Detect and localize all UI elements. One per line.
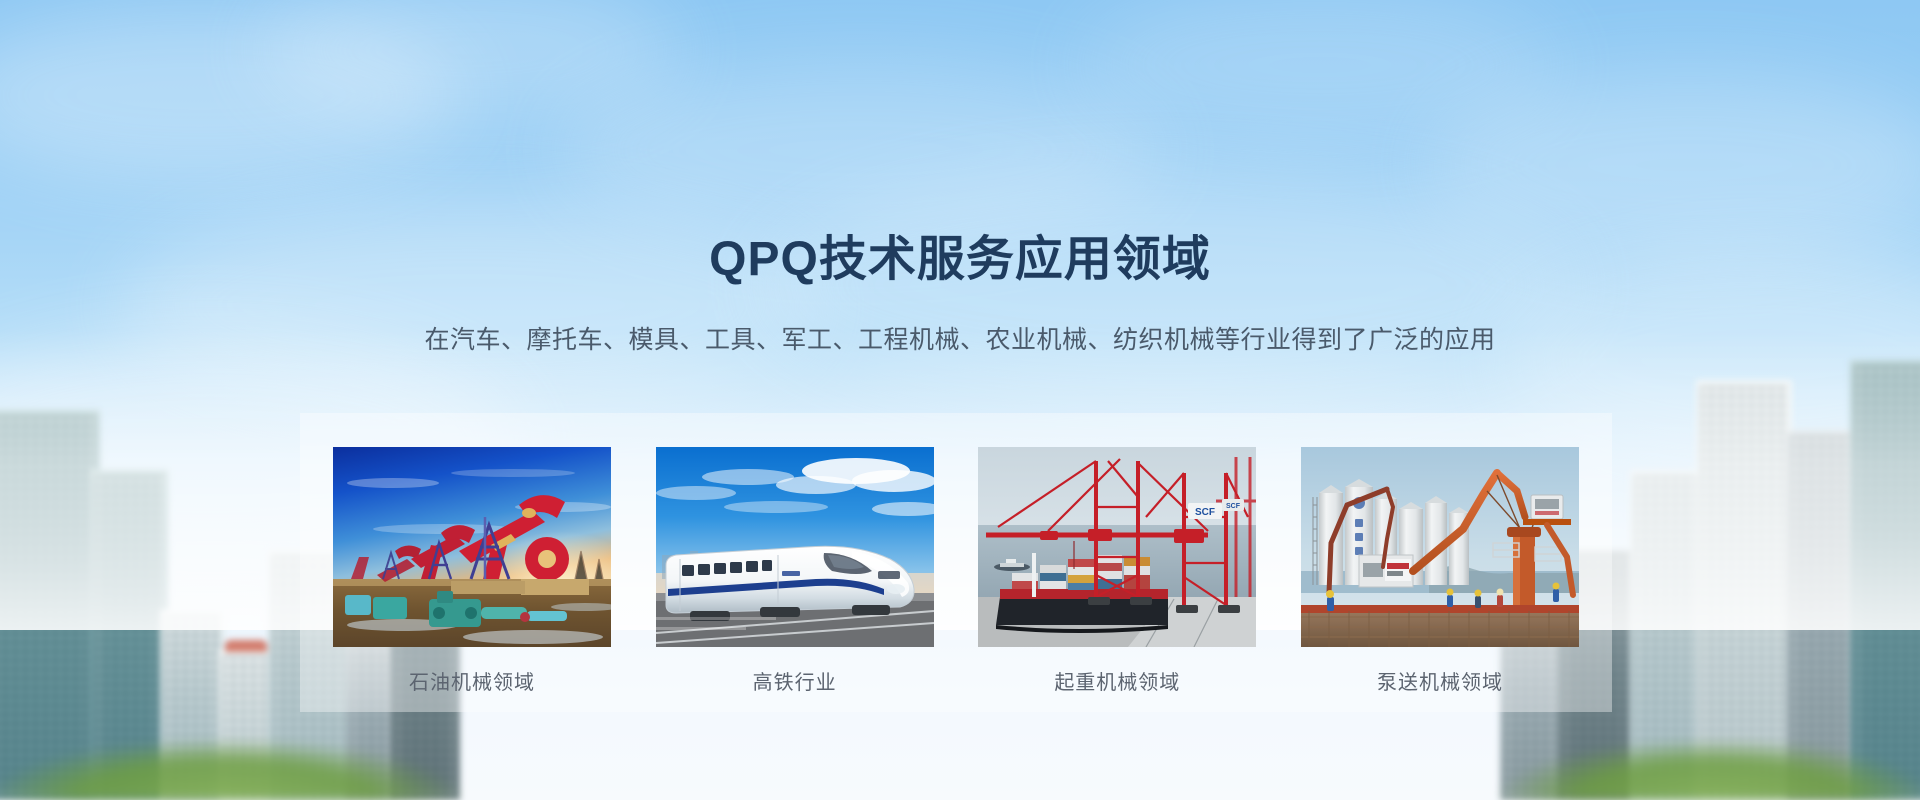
page-title: QPQ技术服务应用领域	[0, 236, 1920, 284]
card-label: 起重机械领域	[1054, 673, 1180, 693]
card-label: 泵送机械领域	[1377, 673, 1503, 693]
cloud-wisp	[560, 60, 1160, 240]
hero-banner: QPQ技术服务应用领域 在汽车、摩托车、模具、工具、军工、工程机械、农业机械、纺…	[0, 0, 1920, 800]
card-oil-machinery[interactable]: 石油机械领域	[333, 447, 611, 693]
card-high-speed-rail[interactable]: 高铁行业	[656, 447, 934, 693]
svg-text:SCF: SCF	[1195, 507, 1215, 518]
card-pumping-machinery[interactable]: 泵送机械领域	[1301, 447, 1579, 693]
cloud-wisp	[0, 10, 460, 180]
card-image-oil-pumpjack	[333, 447, 611, 647]
cloud-wisp	[120, 200, 820, 410]
card-lifting-machinery[interactable]: SCF SCF 起重机械领域	[978, 447, 1256, 693]
cloud-wisp	[260, 0, 680, 120]
page-subtitle: 在汽车、摩托车、模具、工具、军工、工程机械、农业机械、纺织机械等行业得到了广泛的…	[0, 328, 1920, 353]
card-label: 高铁行业	[753, 673, 837, 693]
card-image-port-crane: SCF SCF	[978, 447, 1256, 647]
application-cards-panel: 石油机械领域	[300, 413, 1612, 712]
cloud-wisp	[1080, 0, 1560, 140]
card-label: 石油机械领域	[409, 673, 535, 693]
card-image-concrete-pump	[1301, 447, 1579, 647]
cloud-wisp	[1430, 70, 1920, 260]
card-image-high-speed-train	[656, 447, 934, 647]
svg-text:SCF: SCF	[1226, 503, 1241, 510]
